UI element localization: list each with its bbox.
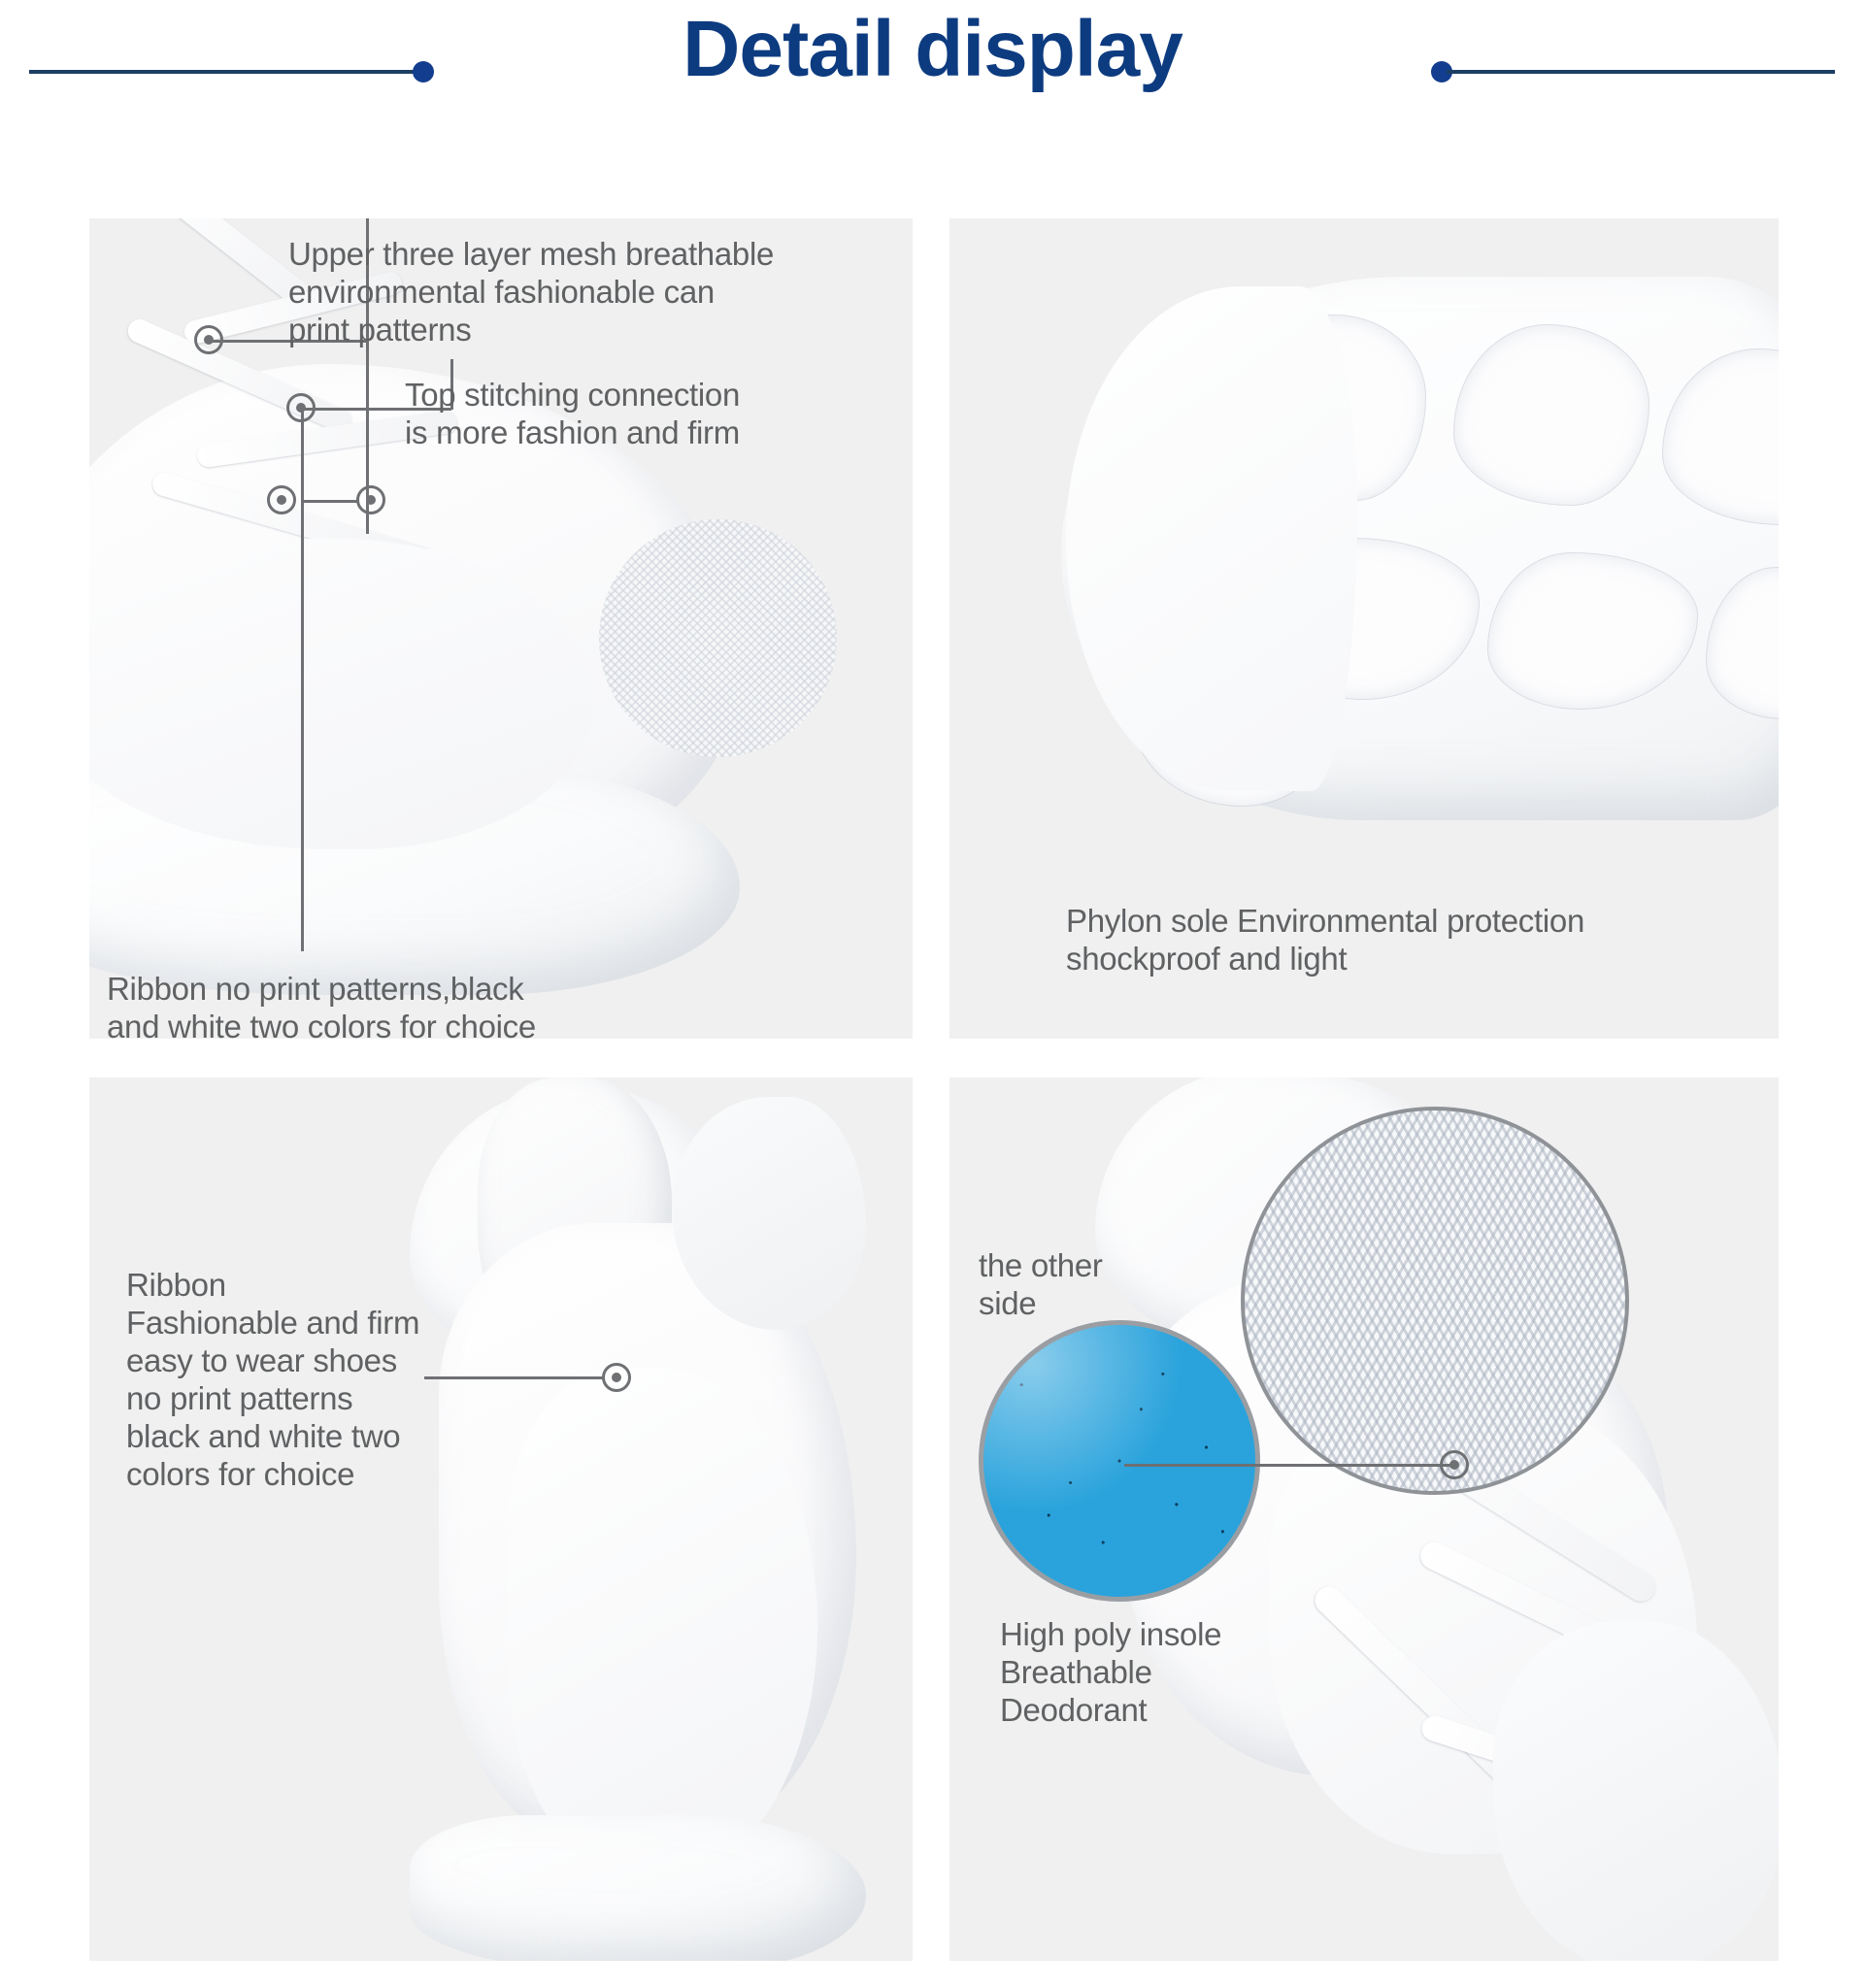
other-side-annotation: the other side <box>979 1247 1231 1323</box>
callout-marker-ribbon-heel[interactable] <box>602 1363 631 1392</box>
insole-blue-detail-circle <box>979 1320 1260 1602</box>
ribbon-heel-annotation: Ribbon Fashionable and firm easy to wear… <box>126 1267 534 1494</box>
panel-insole: the other side High poly insole Breathab… <box>949 1077 1779 1961</box>
page-title: Detail display <box>0 10 1865 89</box>
upper-mesh-annotation: Upper three layer mesh breathable enviro… <box>288 236 900 349</box>
callout-marker-insole[interactable] <box>1440 1450 1469 1479</box>
ribbon-annotation: Ribbon no print patterns,black and white… <box>107 971 689 1039</box>
panel-upper-mesh: Upper three layer mesh breathable enviro… <box>89 218 913 1039</box>
header-rule-right <box>1447 70 1835 74</box>
leader-line-insole <box>1124 1464 1454 1467</box>
insole-other-side-circle <box>1241 1107 1629 1495</box>
stitching-detail-circle <box>599 519 837 757</box>
callout-marker-upper-mesh[interactable] <box>194 325 223 354</box>
heel-ribbon-photo <box>89 1077 913 1961</box>
detail-panel-grid: Upper three layer mesh breathable enviro… <box>89 218 1779 1966</box>
phylon-sole-annotation: Phylon sole Environmental protection sho… <box>1066 903 1775 978</box>
callout-marker-stitch-mesh[interactable] <box>267 485 296 514</box>
high-poly-insole-annotation: High poly insole Breathable Deodorant <box>1000 1616 1320 1730</box>
callout-marker-ribbon[interactable] <box>286 393 316 422</box>
leader-line-3a <box>301 408 304 951</box>
callout-marker-stitching[interactable] <box>356 485 385 514</box>
top-stitching-annotation: Top stitching connection is more fashion… <box>405 377 871 452</box>
panel-ribbon-heel: Ribbon Fashionable and firm easy to wear… <box>89 1077 913 1961</box>
panel-phylon-sole: Phylon sole Environmental protection sho… <box>949 218 1779 1039</box>
leader-line-3b <box>301 500 357 503</box>
page-header: Detail display <box>0 0 1865 146</box>
